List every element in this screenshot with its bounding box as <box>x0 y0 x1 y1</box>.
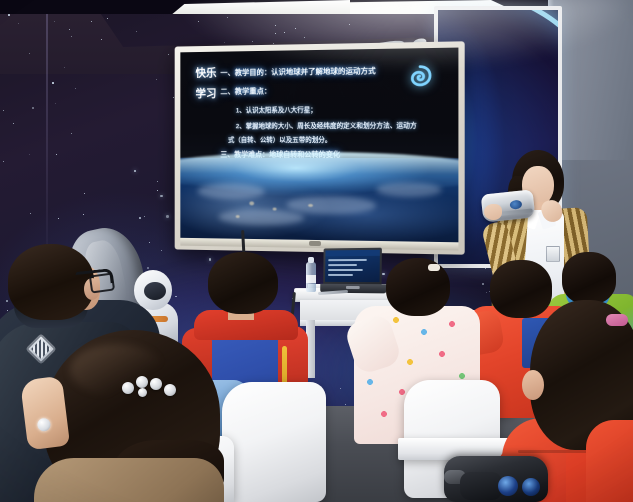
teacher-left-hand <box>484 204 502 220</box>
slide-line-1: 一、教学目的：认识地球并了解地球的运动方式 <box>220 65 375 78</box>
vr-headset[interactable] <box>444 456 548 502</box>
ring <box>37 417 51 431</box>
glasses-lens <box>89 272 115 293</box>
hair-tie <box>606 314 628 326</box>
woman-bun-pearl-clip <box>44 330 254 502</box>
child-corner-red <box>586 420 633 502</box>
earth-from-space-image <box>180 158 458 243</box>
hair-clip <box>428 264 440 271</box>
vr-lens-left <box>498 476 518 496</box>
spiral-galaxy-logo <box>409 64 432 87</box>
slide-line-5: 式（自转、公转）以及五带的划分。 <box>228 134 331 144</box>
raised-hand <box>20 376 70 451</box>
slide-line-4: 2、掌握地球的大小、周长及经纬度的定义和划分方法、运动方 <box>236 120 417 131</box>
slide-line-3: 1、认识太阳系及八大行星； <box>236 104 317 114</box>
display-screen: 快乐学习 一、教学目的：认识地球并了解地球的运动方式 二、教学重点： 1、认识太… <box>180 48 458 243</box>
pearl-hair-clip <box>122 376 182 400</box>
slide-line-2: 二、教学重点： <box>220 85 271 96</box>
vr-lens-right <box>522 478 540 496</box>
mural-panel-seam <box>46 14 48 274</box>
interactive-display[interactable]: 快乐学习 一、教学目的：认识地球并了解地球的运动方式 二、教学重点： 1、认识太… <box>175 41 465 254</box>
slide-vertical-motto: 快乐学习 <box>196 64 217 105</box>
projector-lens <box>509 200 522 210</box>
ceiling-light-strip <box>170 0 350 16</box>
classroom-photo-scene: 快乐学习 一、教学目的：认识地球并了解地球的运动方式 二、教学重点： 1、认识太… <box>0 0 633 502</box>
display-brand-mark <box>309 241 321 246</box>
presentation-slide: 快乐学习 一、教学目的：认识地球并了解地球的运动方式 二、教学重点： 1、认识太… <box>180 48 458 167</box>
